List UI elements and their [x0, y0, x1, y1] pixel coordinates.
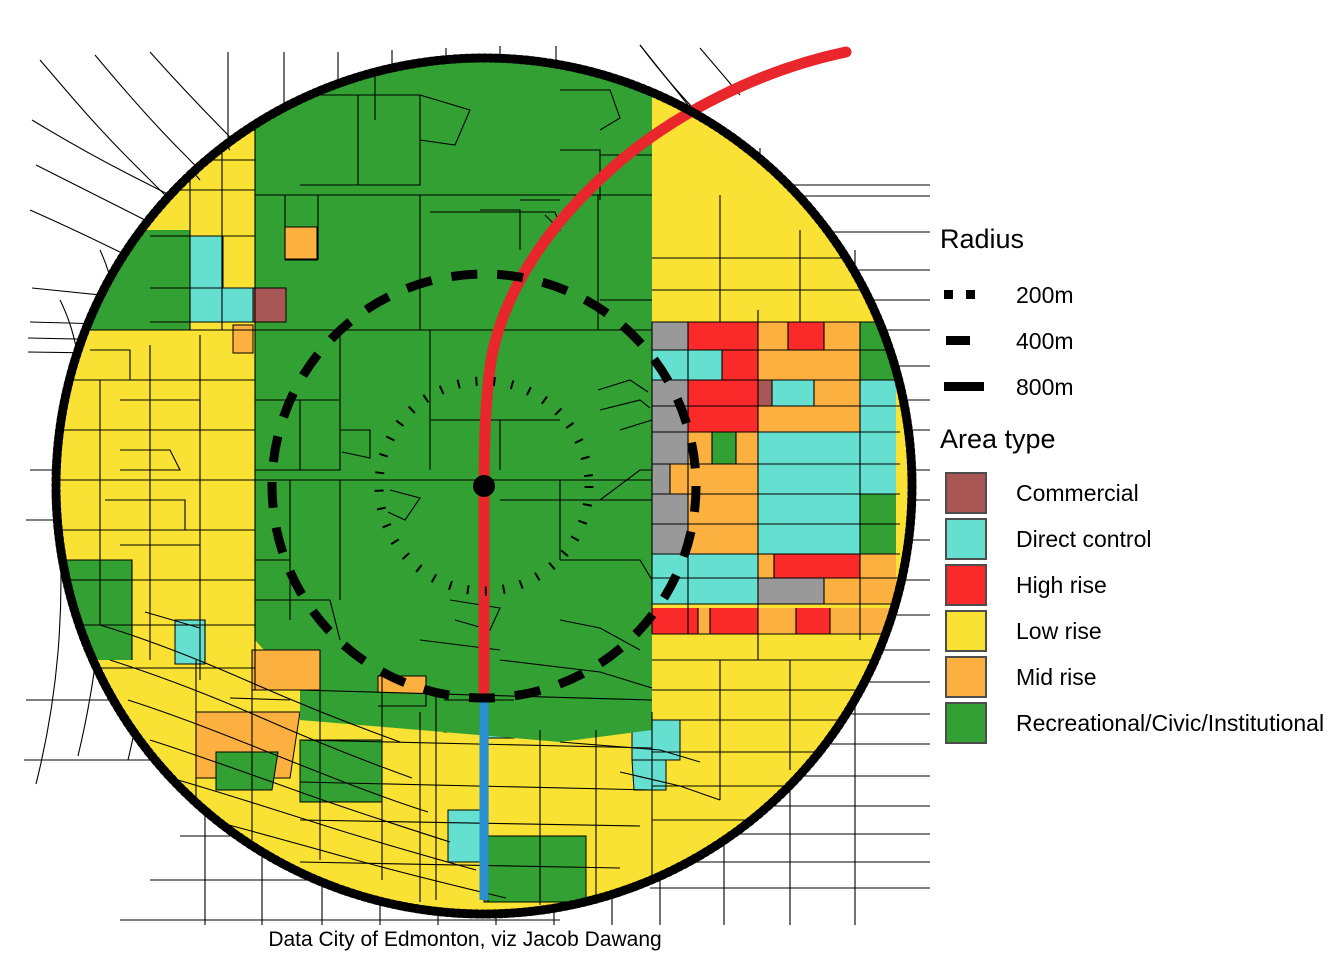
zone-recreational-s1[interactable] — [484, 836, 586, 902]
commercial-swatch-key — [940, 472, 992, 514]
legend-item-direct-control-label: Direct control — [1016, 526, 1151, 553]
zone-mid-rise-e15[interactable] — [758, 608, 796, 634]
radius-400m-key — [940, 336, 992, 346]
zone-recreational-e5[interactable] — [860, 524, 896, 554]
high-rise-swatch-key — [940, 564, 992, 606]
zone-mid-rise-e11[interactable] — [758, 554, 774, 578]
direct-control-swatch — [945, 518, 987, 560]
legend-item-direct-control[interactable]: Direct control — [940, 516, 1151, 562]
zone-recreational-e4[interactable] — [860, 494, 896, 524]
legend-item-recreational-label: Recreational/Civic/Institutional — [1016, 710, 1324, 737]
zoning-map[interactable] — [0, 0, 930, 925]
zone-direct-control-e6[interactable] — [758, 494, 860, 524]
legend-item-recreational[interactable]: Recreational/Civic/Institutional — [940, 700, 1324, 746]
legend-panel: Radius 200m 400m 800m — [930, 0, 1344, 925]
zone-mid-rise-e8[interactable] — [670, 464, 758, 494]
dashed-line-icon — [944, 336, 988, 346]
zone-mid-rise-e10[interactable] — [688, 524, 758, 554]
zone-commercial-nw[interactable] — [253, 288, 286, 322]
zone-mid-rise-e13[interactable] — [860, 554, 896, 604]
zone-high-rise-e5[interactable] — [774, 554, 860, 578]
zone-unclassified-e1[interactable] — [652, 322, 688, 350]
zone-direct-control-e4[interactable] — [758, 432, 896, 464]
zone-commercial-e1[interactable] — [758, 380, 772, 406]
zone-mid-rise-e12[interactable] — [824, 578, 860, 604]
legend-item-radius-400m-label: 400m — [1016, 328, 1074, 355]
mid-rise-swatch-key — [940, 656, 992, 698]
zone-high-rise-e2[interactable] — [788, 322, 824, 350]
high-rise-swatch — [945, 564, 987, 606]
legend-item-commercial[interactable]: Commercial — [940, 470, 1139, 516]
zone-unclassified-e7[interactable] — [758, 578, 824, 604]
legend-item-high-rise-label: High rise — [1016, 572, 1107, 599]
zone-unclassified-e5[interactable] — [652, 494, 688, 524]
legend-item-radius-200m[interactable]: 200m — [940, 272, 1074, 318]
map-canvas[interactable] — [0, 0, 930, 925]
legend-item-commercial-label: Commercial — [1016, 480, 1139, 507]
zone-high-rise-e1[interactable] — [688, 322, 758, 350]
station-dot[interactable] — [473, 475, 495, 497]
zone-unclassified-e4[interactable] — [652, 464, 670, 494]
zone-high-rise-e3[interactable] — [722, 350, 758, 380]
zone-mid-rise-e14[interactable] — [698, 608, 710, 634]
legend-item-mid-rise[interactable]: Mid rise — [940, 654, 1097, 700]
zone-recreational-e3[interactable] — [712, 432, 736, 464]
zone-recreational-sw-2[interactable] — [300, 740, 382, 802]
source-caption: Data City of Edmonton, viz Jacob Dawang — [0, 928, 930, 952]
zone-direct-control-nw-1[interactable] — [190, 236, 223, 292]
recreational-swatch — [945, 702, 987, 744]
zone-direct-control-e7[interactable] — [758, 524, 860, 554]
zone-high-rise-e6[interactable] — [652, 608, 698, 634]
mid-rise-swatch — [945, 656, 987, 698]
solid-line-icon — [944, 382, 988, 392]
legend-item-radius-800m[interactable]: 800m — [940, 364, 1074, 410]
legend-item-low-rise[interactable]: Low rise — [940, 608, 1102, 654]
zone-grid-east[interactable] — [652, 322, 896, 634]
low-rise-swatch-key — [940, 610, 992, 652]
zone-high-rise-e7[interactable] — [710, 608, 758, 634]
legend-item-radius-200m-label: 200m — [1016, 282, 1074, 309]
zone-mid-rise-nw-2[interactable] — [233, 325, 253, 353]
zone-mid-rise-e7[interactable] — [736, 432, 758, 464]
low-rise-swatch — [945, 610, 987, 652]
legend-item-high-rise[interactable]: High rise — [940, 562, 1107, 608]
zone-mid-rise-e2[interactable] — [824, 322, 860, 350]
zone-direct-control-s2[interactable] — [448, 810, 482, 862]
zone-mid-rise-sw-1[interactable] — [252, 650, 320, 690]
legend-item-low-rise-label: Low rise — [1016, 618, 1102, 645]
zone-mid-rise-e16[interactable] — [830, 608, 860, 634]
zone-high-rise-e8[interactable] — [796, 608, 830, 634]
zone-recreational-campus-edge[interactable] — [636, 322, 652, 634]
radius-800m-key — [940, 382, 992, 392]
zone-direct-control-e5[interactable] — [758, 464, 896, 494]
dotted-line-icon — [944, 290, 988, 300]
legend-radius-title: Radius — [940, 224, 1024, 255]
zone-mid-rise-e5[interactable] — [758, 406, 860, 432]
legend-item-mid-rise-label: Mid rise — [1016, 664, 1097, 691]
zone-direct-control-nw-2[interactable] — [190, 288, 223, 322]
radius-200m-key — [940, 290, 992, 300]
legend-item-radius-400m[interactable]: 400m — [940, 318, 1074, 364]
zone-direct-control-nw-3[interactable] — [222, 288, 254, 322]
zone-unclassified-e3[interactable] — [652, 432, 688, 464]
zone-mid-rise-e4[interactable] — [814, 380, 860, 406]
legend-area-type-title: Area type — [940, 424, 1056, 455]
zone-mid-rise-e1[interactable] — [758, 322, 788, 350]
zone-mid-rise-nw[interactable] — [285, 227, 317, 259]
zone-recreational-sw-1[interactable] — [216, 752, 278, 790]
zone-direct-control-e2[interactable] — [772, 380, 814, 406]
zone-mid-rise-e3[interactable] — [758, 350, 860, 380]
recreational-swatch-key — [940, 702, 992, 744]
commercial-swatch — [945, 472, 987, 514]
legend-item-radius-800m-label: 800m — [1016, 374, 1074, 401]
direct-control-swatch-key — [940, 518, 992, 560]
